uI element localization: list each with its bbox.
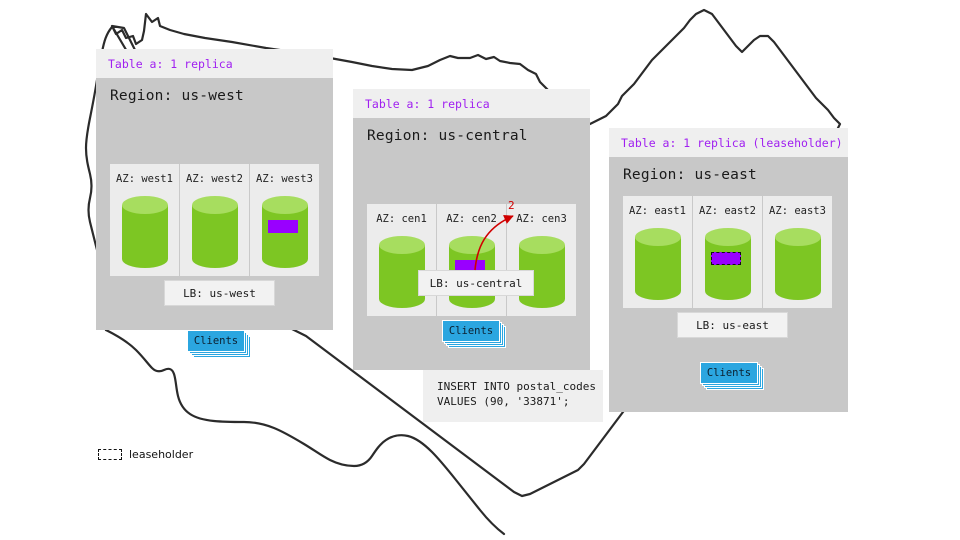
load-balancer-box[interactable]: LB: us-east xyxy=(677,312,788,338)
az-cell-az-cen3[interactable]: AZ: cen3 xyxy=(506,204,576,316)
db-node[interactable] xyxy=(261,195,309,282)
range-replica xyxy=(268,220,298,233)
az-cell-az-east1[interactable]: AZ: east1 xyxy=(623,196,692,308)
az-cell-az-west2[interactable]: AZ: west2 xyxy=(179,164,249,276)
clients-stack[interactable]: Clients xyxy=(442,320,500,342)
node-cylinder-icon xyxy=(774,227,822,310)
az-label: AZ: west1 xyxy=(116,173,173,185)
db-node[interactable] xyxy=(704,227,752,314)
legend: leaseholder xyxy=(98,448,193,461)
node-cylinder-icon xyxy=(261,195,309,278)
az-label: AZ: cen3 xyxy=(516,213,567,225)
sql-statement-box: INSERT INTO postal_codes VALUES (90, '33… xyxy=(423,370,603,422)
arrow-step-label: 2 xyxy=(508,199,515,212)
clients-label: Clients xyxy=(194,335,238,347)
region-replica-header: Table a: 1 replica xyxy=(353,89,590,118)
az-label: AZ: east1 xyxy=(629,205,686,217)
db-node[interactable] xyxy=(191,195,239,282)
clients-stack[interactable]: Clients xyxy=(187,330,245,352)
region-replica-header: Table a: 1 replica xyxy=(96,49,333,78)
region-replica-header: Table a: 1 replica (leaseholder) xyxy=(609,128,848,157)
az-cell-az-cen1[interactable]: AZ: cen1 xyxy=(367,204,436,316)
load-balancer-box[interactable]: LB: us-west xyxy=(164,280,275,306)
region-body: Region: us-westAZ: west1AZ: west2AZ: wes… xyxy=(96,78,333,330)
db-node[interactable] xyxy=(774,227,822,314)
node-cylinder-icon xyxy=(634,227,682,310)
az-label: AZ: east2 xyxy=(699,205,756,217)
az-label: AZ: cen2 xyxy=(446,213,497,225)
region-panel-us-east: Table a: 1 replica (leaseholder)Region: … xyxy=(609,128,848,412)
clients-card-front[interactable]: Clients xyxy=(700,362,758,384)
region-title: Region: us-east xyxy=(609,157,848,183)
region-panel-us-central: Table a: 1 replicaRegion: us-centralAZ: … xyxy=(353,89,590,370)
node-cylinder-icon xyxy=(121,195,169,278)
leaseholder-swatch-icon xyxy=(98,449,122,460)
region-title: Region: us-west xyxy=(96,78,333,104)
legend-label: leaseholder xyxy=(129,448,193,461)
region-body: Region: us-eastAZ: east1AZ: east2AZ: eas… xyxy=(609,157,848,412)
region-panel-us-west: Table a: 1 replicaRegion: us-westAZ: wes… xyxy=(96,49,333,330)
az-container: AZ: east1AZ: east2AZ: east3 xyxy=(623,196,832,308)
az-label: AZ: east3 xyxy=(769,205,826,217)
az-container: AZ: west1AZ: west2AZ: west3 xyxy=(110,164,319,276)
az-cell-az-east3[interactable]: AZ: east3 xyxy=(762,196,832,308)
az-cell-az-west3[interactable]: AZ: west3 xyxy=(249,164,319,276)
az-label: AZ: west3 xyxy=(256,173,313,185)
region-body: Region: us-centralAZ: cen1AZ: cen2AZ: ce… xyxy=(353,118,590,370)
az-label: AZ: cen1 xyxy=(376,213,427,225)
az-label: AZ: west2 xyxy=(186,173,243,185)
az-container: AZ: cen1AZ: cen2AZ: cen3 xyxy=(367,204,576,316)
clients-label: Clients xyxy=(449,325,493,337)
region-title: Region: us-central xyxy=(353,118,590,144)
range-replica xyxy=(711,252,741,265)
clients-stack[interactable]: Clients xyxy=(700,362,758,384)
db-node[interactable] xyxy=(634,227,682,314)
clients-card-front[interactable]: Clients xyxy=(442,320,500,342)
db-node[interactable] xyxy=(121,195,169,282)
clients-card-front[interactable]: Clients xyxy=(187,330,245,352)
node-cylinder-icon xyxy=(704,227,752,310)
az-cell-az-west1[interactable]: AZ: west1 xyxy=(110,164,179,276)
az-cell-az-cen2[interactable]: AZ: cen2 xyxy=(436,204,506,316)
az-cell-az-east2[interactable]: AZ: east2 xyxy=(692,196,762,308)
node-cylinder-icon xyxy=(191,195,239,278)
clients-label: Clients xyxy=(707,367,751,379)
load-balancer-box[interactable]: LB: us-central xyxy=(418,270,534,296)
